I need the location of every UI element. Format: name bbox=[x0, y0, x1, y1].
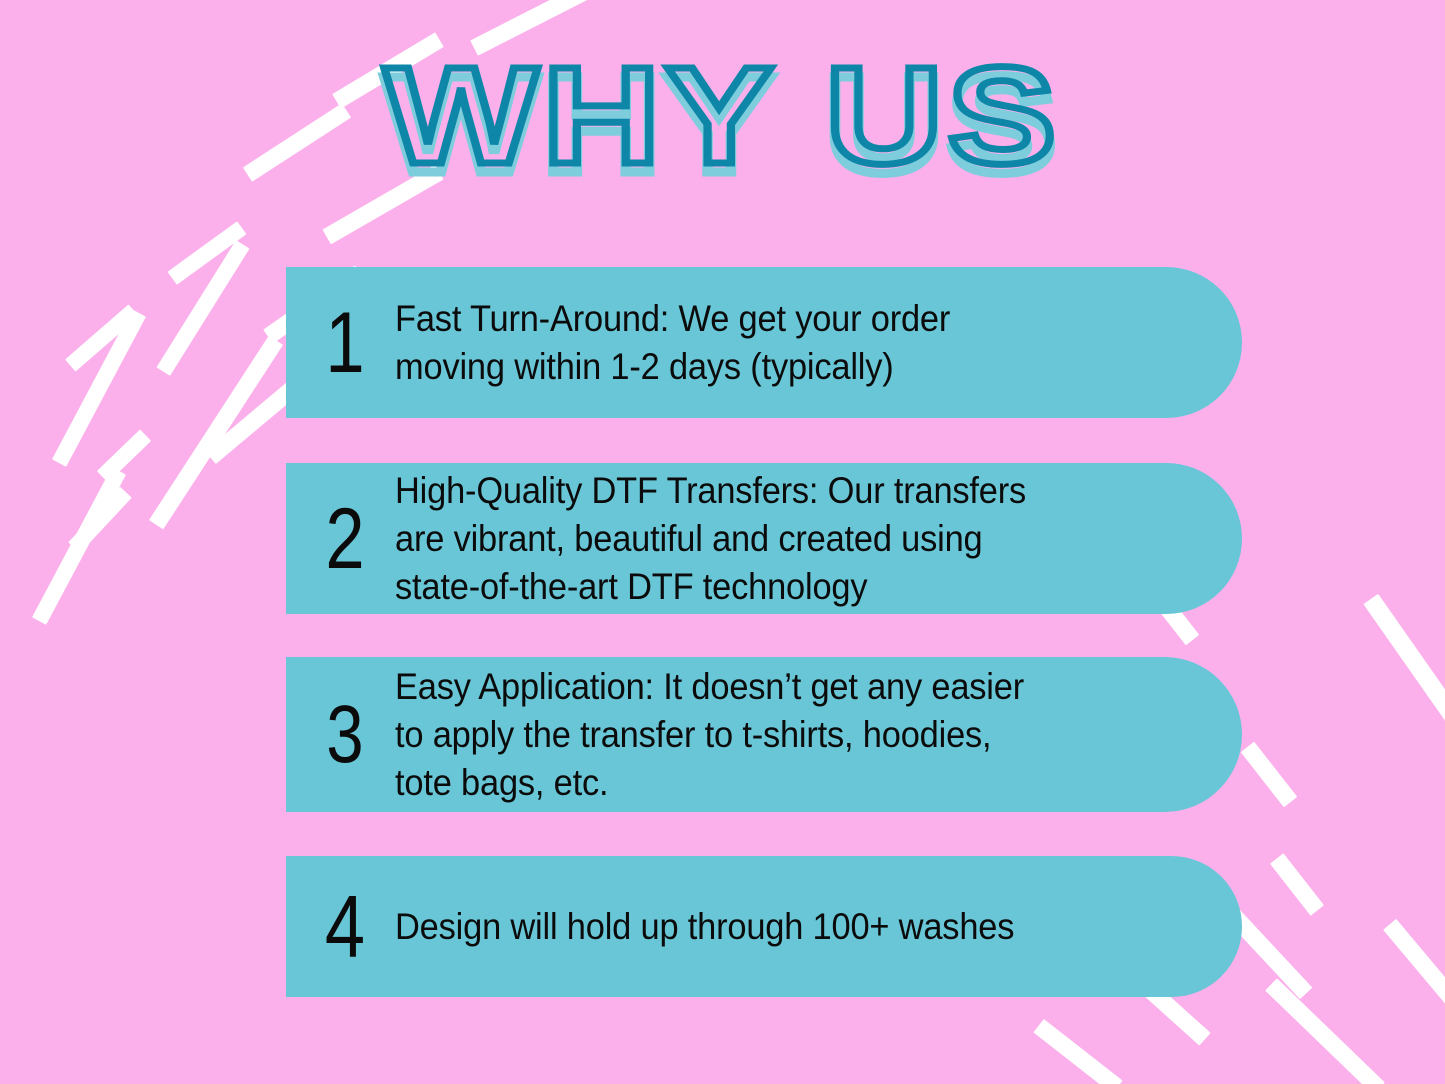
feature-number-3: 3 bbox=[315, 692, 376, 778]
feature-text-line: tote bags, etc. bbox=[395, 759, 1158, 807]
page-title: WHY US WHY US bbox=[0, 46, 1445, 196]
feature-text-line: to apply the transfer to t-shirts, hoodi… bbox=[395, 711, 1158, 759]
decor-dash-upper-left bbox=[156, 240, 249, 376]
feature-text-line: Fast Turn-Around: We get your order bbox=[395, 295, 1158, 343]
decor-dash-lower-right bbox=[1363, 594, 1445, 776]
decor-dash-upper-left bbox=[168, 221, 247, 284]
decor-dash-upper-left bbox=[149, 336, 283, 530]
decor-dash-upper-left bbox=[97, 429, 151, 482]
decor-dash-upper-left bbox=[52, 309, 146, 467]
decor-dash-lower-right bbox=[1033, 1019, 1122, 1084]
feature-text-line: Design will hold up through 100+ washes bbox=[395, 903, 1158, 951]
feature-text-line: are vibrant, beautiful and created using bbox=[395, 515, 1158, 563]
decor-dash-lower-right bbox=[1270, 853, 1324, 915]
decor-dash-lower-right bbox=[1265, 978, 1385, 1084]
feature-bar-4: 4 Design will hold up through 100+ washe… bbox=[286, 856, 1242, 997]
feature-bar-2: 2 High-Quality DTF Transfers: Our transf… bbox=[286, 463, 1242, 614]
feature-text-line: High-Quality DTF Transfers: Our transfer… bbox=[395, 467, 1158, 515]
decor-dash-lower-right bbox=[1383, 919, 1445, 1014]
decor-dash-lower-right bbox=[1241, 742, 1297, 808]
feature-text-1: Fast Turn-Around: We get your ordermovin… bbox=[382, 295, 1182, 391]
feature-text-line: state-of-the-art DTF technology bbox=[395, 563, 1158, 611]
feature-bar-3: 3 Easy Application: It doesn’t get any e… bbox=[286, 657, 1242, 812]
decor-dash-upper-left bbox=[65, 304, 139, 371]
feature-text-line: Easy Application: It doesn’t get any eas… bbox=[395, 663, 1158, 711]
title-outline-text: WHY US bbox=[0, 46, 1445, 186]
feature-number-1: 1 bbox=[315, 300, 376, 386]
decor-dash-upper-left bbox=[68, 487, 132, 553]
feature-bar-1: 1 Fast Turn-Around: We get your ordermov… bbox=[286, 267, 1242, 418]
feature-number-2: 2 bbox=[315, 496, 376, 582]
feature-number-4: 4 bbox=[315, 884, 376, 970]
feature-text-3: Easy Application: It doesn’t get any eas… bbox=[382, 663, 1182, 807]
feature-text-4: Design will hold up through 100+ washes bbox=[382, 903, 1182, 951]
poster-canvas: WHY US WHY US 1 Fast Turn-Around: We get… bbox=[0, 0, 1445, 1084]
feature-text-line: moving within 1-2 days (typically) bbox=[395, 343, 1158, 391]
decor-dash-upper-left bbox=[32, 467, 126, 625]
feature-text-2: High-Quality DTF Transfers: Our transfer… bbox=[382, 467, 1182, 611]
